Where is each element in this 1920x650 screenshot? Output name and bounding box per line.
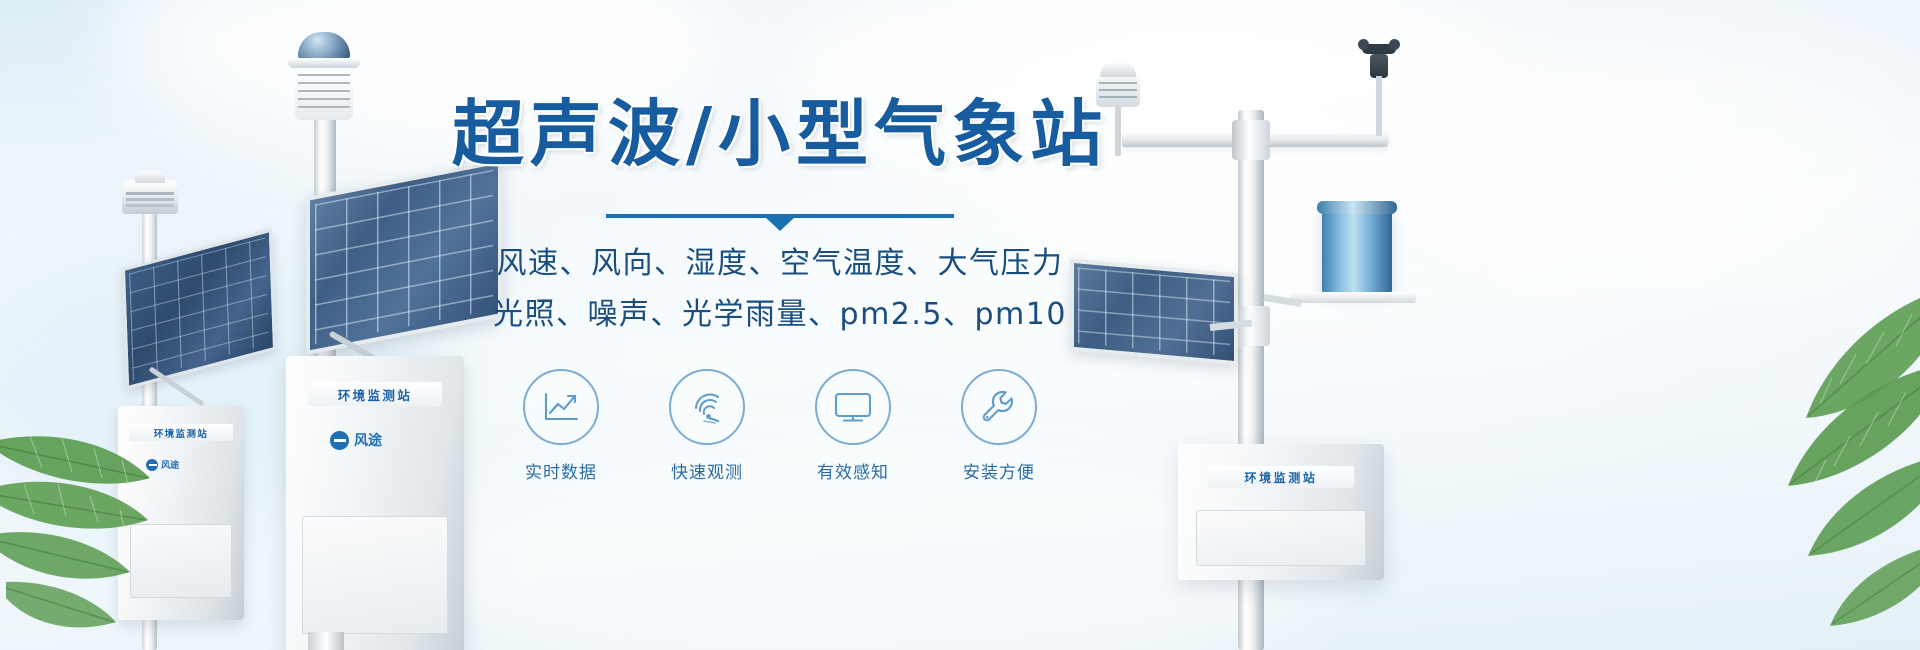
monitor-icon (815, 369, 891, 445)
line-chart-icon (523, 369, 599, 445)
cabinet-door (1196, 510, 1366, 566)
brand-label-text: 风途 (161, 458, 179, 471)
pole-base (308, 632, 344, 650)
product-hero-banner: 环境监测站 风途 环境监测站 风途 (0, 0, 1920, 650)
cabinet-label-plate: 环境监测站 (308, 382, 442, 406)
equipment-cabinet: 环境监测站 (1178, 444, 1384, 580)
brand-logo: 风途 (146, 458, 179, 471)
sensor-cap (1100, 62, 1136, 78)
brand-label-text: 风途 (354, 430, 382, 450)
cabinet-label-text: 环境监测站 (154, 426, 209, 440)
subtitle-line-1: 风速、风向、湿度、空气温度、大气压力 (430, 240, 1130, 287)
brand-mark-icon (146, 459, 158, 471)
tropical-leaf-right-icon (1640, 270, 1920, 650)
anemometer-cups (1362, 44, 1396, 54)
feature-label: 安装方便 (963, 458, 1035, 483)
brand-logo: 风途 (330, 430, 382, 450)
caret-down-icon (765, 217, 795, 231)
hero-content: 超声波/小型气象站 风速、风向、湿度、空气温度、大气压力 光照、噪声、光学雨量、… (430, 96, 1130, 496)
cabinet-label-text: 环境监测站 (1244, 469, 1317, 486)
rain-gauge-icon (1322, 208, 1392, 294)
equipment-cabinet: 环境监测站 风途 (118, 406, 244, 620)
feature-item-realtime-data[interactable]: 实时数据 (514, 369, 608, 483)
anemometer-hub (1370, 54, 1388, 78)
cabinet-label-plate: 环境监测站 (1208, 466, 1354, 488)
haze-wisp (1380, 30, 1920, 290)
sensor-stem (1376, 76, 1382, 136)
feature-label: 实时数据 (525, 458, 597, 483)
pole-collar (1232, 120, 1270, 160)
feature-item-fast-observation[interactable]: 快速观测 (660, 369, 754, 483)
title-divider (606, 214, 954, 218)
feature-label: 快速观测 (671, 458, 743, 483)
cabinet-label-plate: 环境监测站 (129, 424, 233, 441)
feature-item-effective-sensing[interactable]: 有效感知 (806, 369, 900, 483)
radiation-shield-sensor-icon (295, 68, 353, 120)
wrench-icon (961, 369, 1037, 445)
radiation-shield-sensor-icon (122, 180, 178, 214)
sensor-cap (288, 58, 360, 68)
cabinet-door (302, 516, 448, 634)
brand-mark-icon (330, 431, 349, 450)
gauge-shelf (1290, 292, 1416, 303)
cabinet-label-text: 环境监测站 (338, 385, 413, 404)
subtitle-line-2: 光照、噪声、光学雨量、pm2.5、pm10 (430, 291, 1130, 338)
feature-item-easy-installation[interactable]: 安装方便 (952, 369, 1046, 483)
cabinet-door (130, 524, 232, 598)
anemometer-vane-icon (1356, 40, 1402, 136)
page-title: 超声波/小型气象站 (430, 96, 1130, 174)
feature-list: 实时数据 快速观测 (430, 369, 1130, 483)
signal-waves-icon (669, 369, 745, 445)
feature-label: 有效感知 (817, 458, 889, 483)
dome-sensor-icon (298, 32, 350, 60)
